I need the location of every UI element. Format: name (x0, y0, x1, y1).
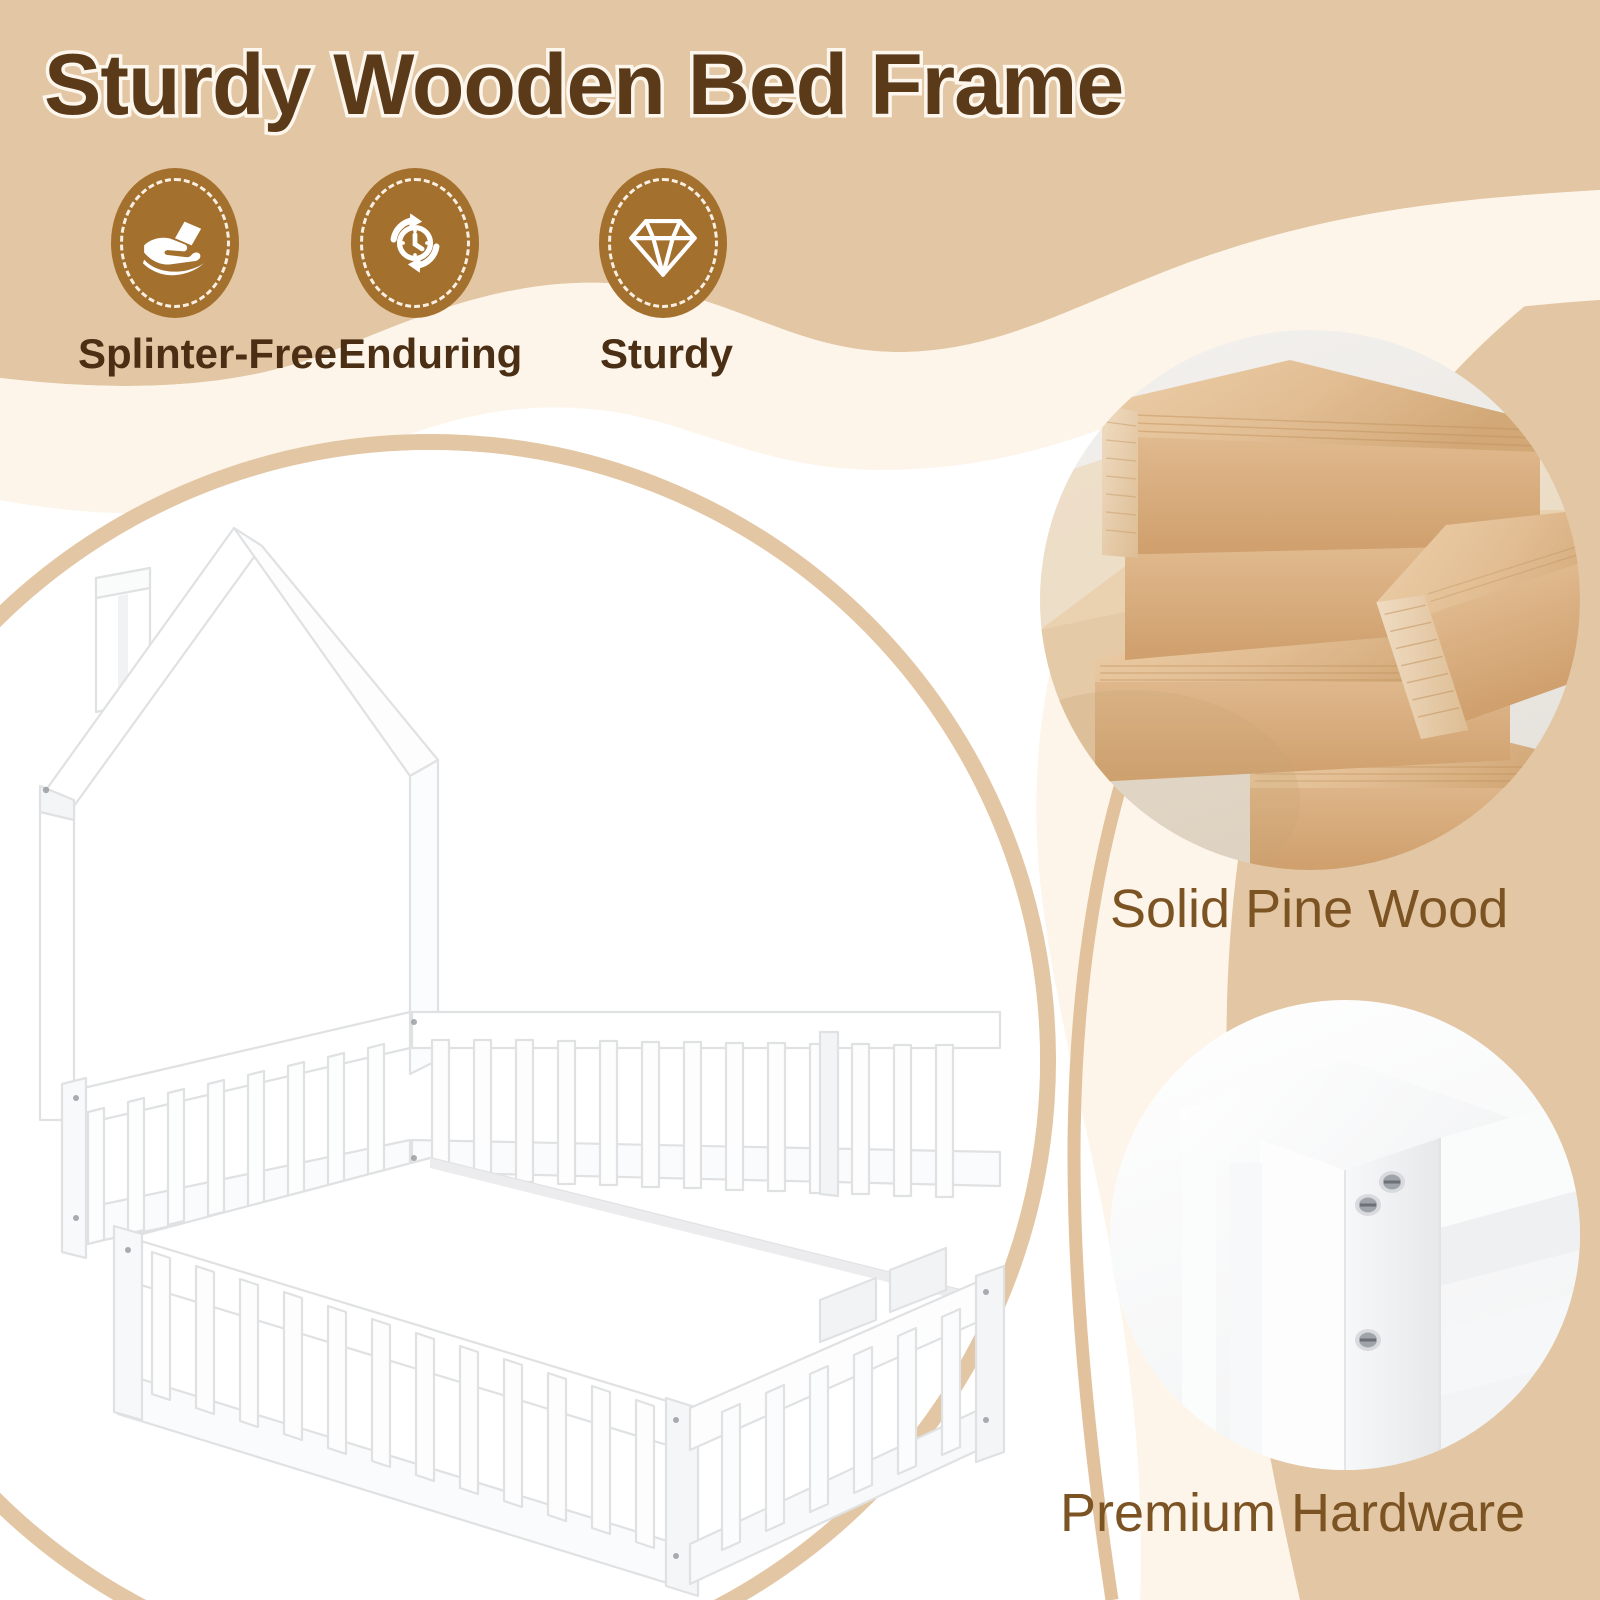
feature-label: Splinter-Free (60, 330, 290, 378)
feature-label: Enduring (300, 330, 530, 378)
inset-caption-premium-hardware: Premium Hardware (1060, 1482, 1525, 1544)
page-title: Sturdy Wooden Bed Frame (44, 36, 1123, 135)
hand-holding-plank-icon (137, 205, 213, 281)
feature-sturdy[interactable]: Sturdy (548, 168, 778, 378)
feature-badge-circle (351, 168, 479, 318)
feature-enduring[interactable]: Enduring (300, 168, 530, 378)
premium-hardware-photo (1110, 1000, 1580, 1470)
feature-label: Sturdy (548, 330, 778, 378)
feature-badge-circle (111, 168, 239, 318)
feature-badge-row: Splinter-Free (60, 168, 800, 388)
infographic-canvas: Sturdy Wooden Bed Frame Splinter-Free (0, 0, 1600, 1600)
feature-splinter-free[interactable]: Splinter-Free (60, 168, 290, 378)
clock-refresh-icon (377, 205, 453, 281)
inset-caption-solid-pine-wood: Solid Pine Wood (1110, 878, 1508, 940)
diamond-icon (624, 204, 702, 282)
feature-badge-circle (599, 168, 727, 318)
